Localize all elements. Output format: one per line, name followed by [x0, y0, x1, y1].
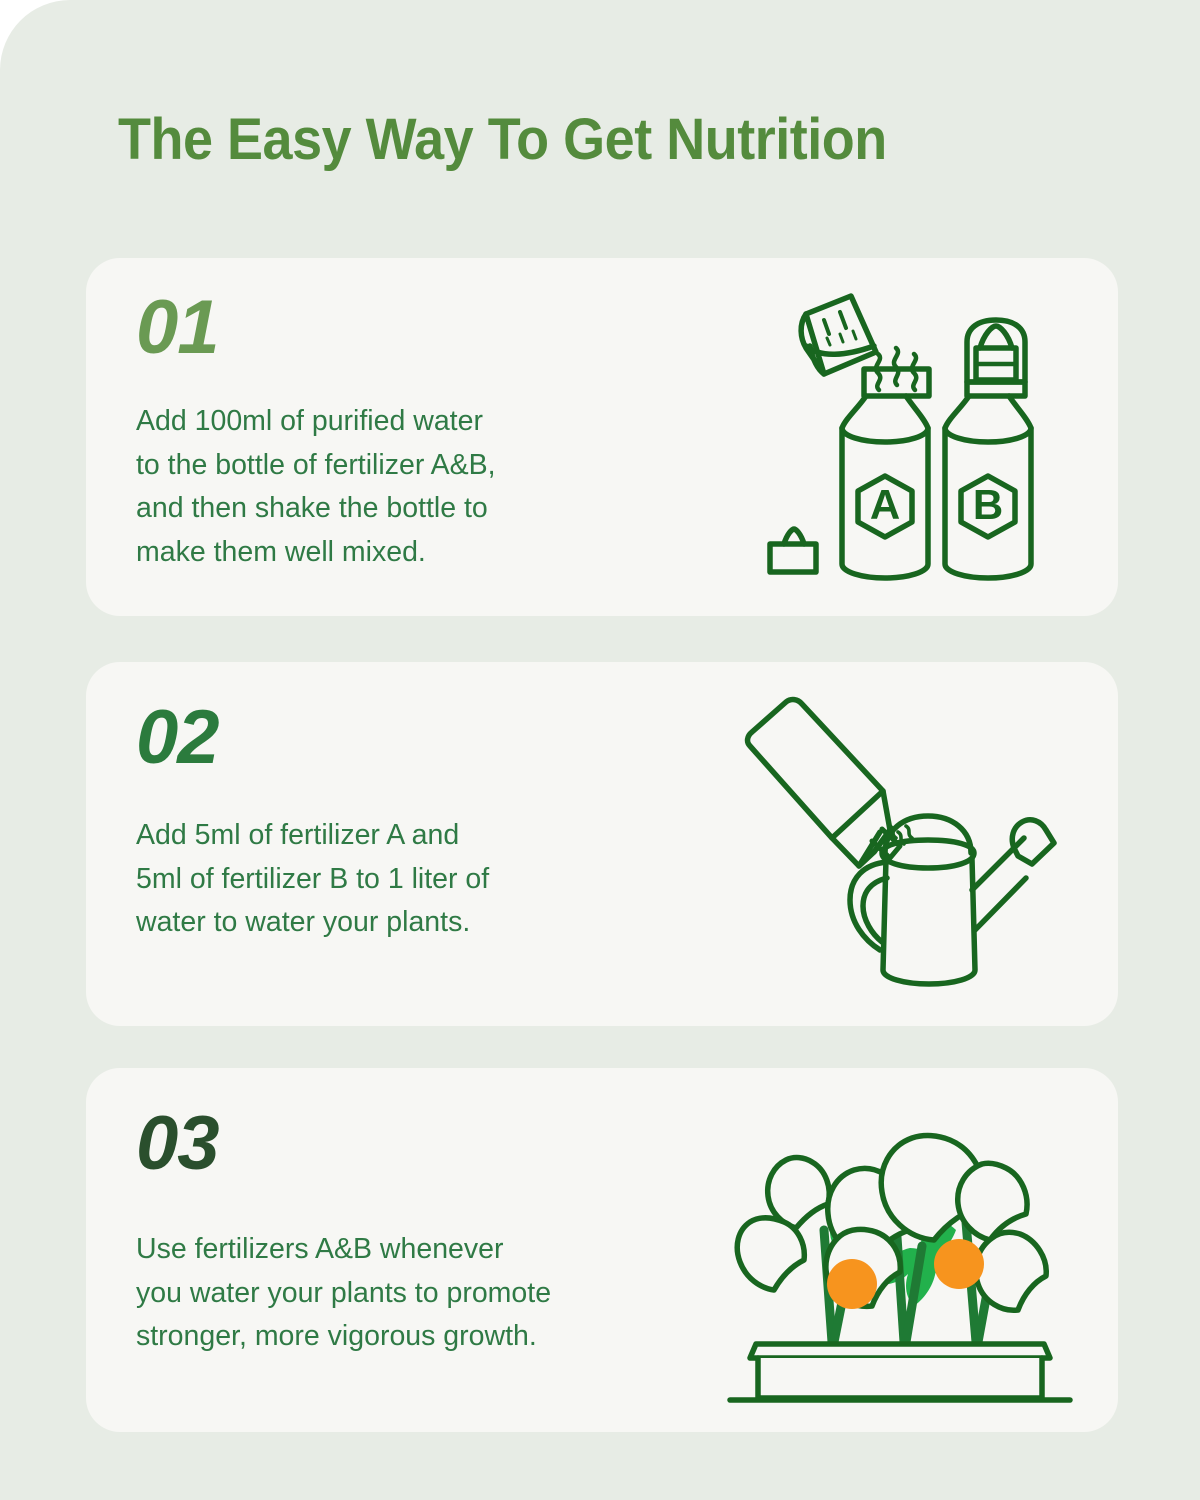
page-title: The Easy Way To Get Nutrition [118, 106, 887, 173]
step-text-02: Add 5ml of fertilizer A and 5ml of ferti… [136, 814, 489, 945]
illustration-bottles: A B [754, 276, 1084, 596]
heart-leaf-shape [737, 1136, 1046, 1311]
bottle-a-label: A [870, 481, 900, 528]
loose-cap-icon [770, 529, 816, 572]
planter-box-icon [730, 1344, 1070, 1400]
fruit-circle [827, 1259, 877, 1309]
infographic-page: The Easy Way To Get Nutrition 01 Add 100… [0, 0, 1200, 1500]
step-number-01: 01 [136, 290, 219, 366]
bottle-b-icon: B [945, 320, 1031, 578]
step-number-03: 03 [136, 1106, 219, 1182]
bottle-b-label: B [973, 481, 1003, 528]
fruit-circle [934, 1239, 984, 1289]
measuring-cup-icon [801, 296, 876, 374]
step-text-03: Use fertilizers A&B whenever you water y… [136, 1228, 551, 1359]
step-card-02: 02 Add 5ml of fertilizer A and 5ml of fe… [86, 662, 1118, 1026]
step-card-03: 03 Use fertilizers A&B whenever you wate… [86, 1068, 1118, 1432]
pouring-bottle-icon [748, 700, 900, 866]
step-number-02: 02 [136, 700, 219, 776]
illustration-plants [714, 1126, 1084, 1416]
illustration-watering-can [714, 678, 1084, 1008]
bottle-a-icon: A [842, 369, 929, 578]
step-text-01: Add 100ml of purified water to the bottl… [136, 400, 496, 574]
step-card-01: 01 Add 100ml of purified water to the bo… [86, 258, 1118, 616]
